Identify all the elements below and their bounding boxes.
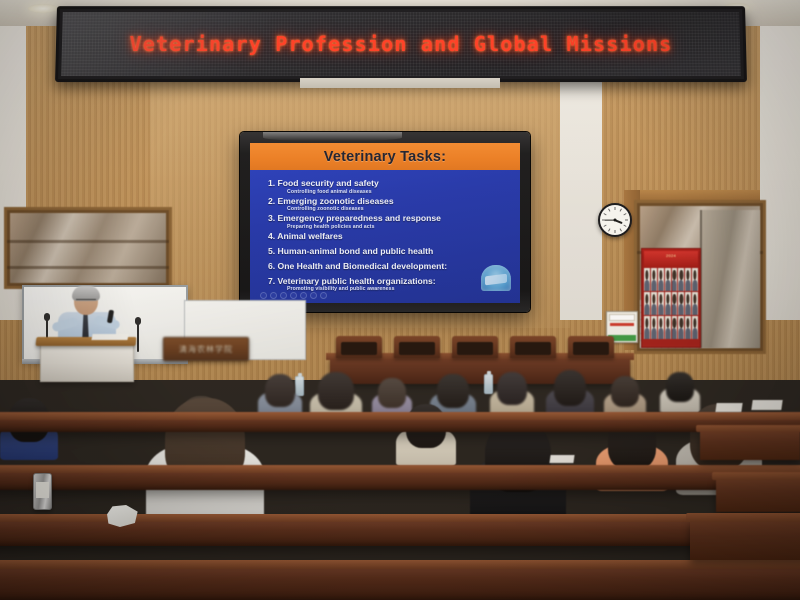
- zoom-icon[interactable]: [300, 292, 307, 299]
- notice-row: [609, 314, 635, 321]
- led-banner-text: Veterinary Profession and Global Mission…: [129, 32, 672, 56]
- poster-photo-grid: [644, 268, 698, 339]
- alcove-shelf: [7, 266, 169, 269]
- podium-name-plaque: 清海农林学院: [163, 337, 249, 361]
- poster-photo-cell: [651, 316, 657, 339]
- wall-far-right-white: [760, 20, 800, 320]
- poster-photo-cell: [678, 292, 684, 315]
- slide-emblem-icon: [481, 265, 511, 291]
- empty-desk[interactable]: [690, 520, 800, 560]
- alcove-metal-panel: [10, 213, 166, 283]
- slide-sub-bullet: Controlling zoonotic diseases: [287, 206, 520, 213]
- microphone-stand: [137, 322, 139, 352]
- slide-bullet: 3. Emergency preparedness and response: [268, 213, 520, 224]
- ceiling-light-icon: [28, 4, 58, 13]
- empty-chair[interactable]: [452, 336, 498, 358]
- slides-icon[interactable]: [290, 292, 297, 299]
- clock-tick: [624, 213, 627, 215]
- poster-photo-cell: [678, 316, 684, 339]
- poster-photo-cell: [658, 316, 664, 339]
- empty-desk[interactable]: [700, 430, 800, 460]
- empty-chair[interactable]: [568, 336, 614, 358]
- poster-photo-cell: [685, 292, 691, 315]
- desk-row-edge: [0, 412, 800, 420]
- podium: [40, 340, 134, 382]
- clock-center-pin: [614, 219, 617, 222]
- poster-photo-cell: [692, 292, 698, 315]
- prev-slide-icon[interactable]: [260, 292, 267, 299]
- empty-chair[interactable]: [510, 336, 556, 358]
- pen-icon[interactable]: [280, 292, 287, 299]
- poster-photo-cell: [672, 292, 678, 315]
- audience-member-hair: [497, 372, 527, 405]
- poster-photo-cell: [685, 316, 691, 339]
- slide-bullet: 6. One Health and Biomedical development…: [268, 261, 520, 272]
- clock-tick: [602, 220, 605, 221]
- empty-chair[interactable]: [336, 336, 382, 358]
- audience-member-hair: [554, 370, 587, 406]
- microphone-icon: [44, 313, 50, 321]
- clock-tick: [620, 208, 622, 211]
- empty-desk-top: [696, 425, 800, 432]
- poster-photo-cell: [665, 268, 671, 291]
- poster-photo-cell: [692, 316, 698, 339]
- glasses-icon: [76, 299, 96, 305]
- handout-paper: [751, 400, 782, 410]
- poster-photo-cell: [644, 292, 650, 315]
- podium-plaque-text: 清海农林学院: [179, 344, 233, 355]
- audience-member: [546, 370, 594, 414]
- slide-bullet: 2. Emerging zoonotic diseases: [268, 196, 520, 207]
- poster-photo-cell: [658, 268, 664, 291]
- poster-photo-cell: [658, 292, 664, 315]
- podium-papers: [91, 334, 128, 340]
- empty-desk-top: [712, 472, 800, 480]
- metal-door[interactable]: [700, 210, 760, 348]
- cursor-icon[interactable]: [320, 292, 327, 299]
- audience-member-hair: [611, 376, 640, 407]
- led-banner: Veterinary Profession and Global Mission…: [55, 6, 747, 82]
- slide-sub-bullet: Controlling food animal diseases: [287, 189, 520, 196]
- audience-member-hair: [666, 372, 693, 402]
- presentation-toolbar[interactable]: [260, 292, 327, 299]
- microphone-icon: [135, 317, 141, 325]
- next-slide-icon[interactable]: [270, 292, 277, 299]
- slide-title-bar: Veterinary Tasks:: [250, 143, 520, 170]
- notice-bar: [610, 323, 634, 326]
- poster-photo-cell: [692, 268, 698, 291]
- projection-display: Veterinary Tasks: 1. Food security and s…: [240, 132, 530, 312]
- poster-photo-cell: [678, 268, 684, 291]
- audience-member: [604, 376, 646, 414]
- poster-photo-cell: [685, 268, 691, 291]
- desk-row-front: [0, 566, 800, 600]
- handout-paper: [715, 403, 742, 412]
- wall-clock-icon: [598, 203, 632, 237]
- poster-photo-cell: [665, 316, 671, 339]
- slide-bullet: 4. Animal welfares: [268, 231, 520, 242]
- slide-bullet: 1. Food security and safety: [268, 178, 520, 189]
- clock-tick: [620, 229, 622, 232]
- audience-member: [660, 372, 700, 408]
- audience-member: [490, 372, 534, 412]
- slide-title-text: Veterinary Tasks:: [324, 149, 446, 165]
- slide-body: 1. Food security and safetyControlling f…: [250, 170, 520, 293]
- clock-tick: [615, 231, 616, 234]
- clock-tick: [615, 207, 616, 210]
- desk-row-edge: [0, 465, 800, 473]
- desk-row: [0, 470, 800, 490]
- clock-tick: [603, 213, 606, 215]
- presentation-slide: Veterinary Tasks: 1. Food security and s…: [250, 143, 520, 303]
- clock-tick: [608, 208, 610, 211]
- poster-photo-cell: [644, 316, 650, 339]
- slide-sub-bullet: Preparing health policies and acts: [287, 224, 520, 231]
- clock-tick: [624, 225, 627, 227]
- led-banner-screen: Veterinary Profession and Global Mission…: [61, 12, 741, 76]
- audience-member: [470, 420, 566, 508]
- slide-bullet: 5. Human-animal bond and public health: [268, 246, 520, 257]
- poster-photo-cell: [644, 268, 650, 291]
- empty-desk[interactable]: [716, 478, 800, 512]
- audience-member: [258, 374, 302, 414]
- lecture-hall-photo: Veterinary Profession and Global Mission…: [0, 0, 800, 600]
- thermos-tumbler: [33, 473, 52, 510]
- poster-title: 2024: [644, 251, 698, 267]
- desk-row-front-edge: [0, 560, 800, 569]
- student-photo-poster: 2024: [641, 248, 701, 348]
- wall-alcove-left: [4, 207, 172, 289]
- led-banner-mount: [300, 78, 500, 88]
- alcove-shelf: [7, 240, 169, 243]
- poster-photo-cell: [672, 268, 678, 291]
- poster-photo-cell: [651, 268, 657, 291]
- empty-desk-top: [686, 513, 800, 522]
- audience-member-hair: [265, 374, 295, 407]
- options-icon[interactable]: [310, 292, 317, 299]
- clock-tick: [626, 220, 629, 221]
- poster-photo-cell: [651, 292, 657, 315]
- handout-paper: [549, 455, 574, 463]
- audience-member-hair: [318, 372, 353, 410]
- empty-chair[interactable]: [394, 336, 440, 358]
- poster-photo-cell: [665, 292, 671, 315]
- clock-tick: [608, 229, 610, 232]
- poster-photo-cell: [672, 316, 678, 339]
- clock-tick: [603, 225, 606, 227]
